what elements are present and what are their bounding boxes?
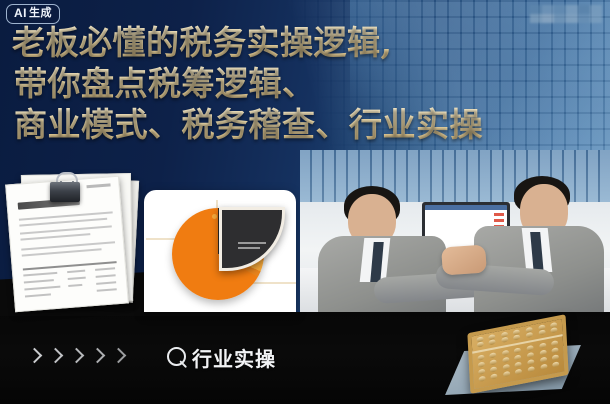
chevron-right-icon — [49, 348, 60, 366]
chevron-right-icon — [112, 348, 123, 366]
watermark-block — [554, 5, 566, 14]
poster-canvas: AI 生成 老板必懂的税务实操逻辑, 带你盘点税筹逻辑、 商业模式、税务稽查、行… — [0, 0, 610, 404]
chevron-right-icon — [28, 348, 39, 366]
chevron-arrows-group — [28, 348, 123, 366]
businessman-left — [318, 172, 468, 312]
ai-badge-cn-text: 生成 — [29, 7, 52, 20]
headline-line-3: 商业模式、税务稽查、行业实操 — [12, 104, 600, 145]
businessman-right — [454, 166, 604, 312]
watermark-block — [530, 5, 542, 14]
paper-code — [86, 183, 110, 188]
watermark-block — [566, 5, 578, 14]
blurred-watermark — [530, 5, 602, 23]
chevron-right-icon — [70, 348, 81, 366]
document-stack — [2, 168, 142, 308]
chevron-right-icon — [91, 348, 102, 366]
chart-leader-line — [252, 282, 296, 284]
handshake-hands — [441, 244, 487, 275]
paper-text-line — [20, 225, 112, 234]
watermark-block — [590, 5, 602, 14]
pie-callout-dot — [212, 214, 217, 219]
binder-clip-icon — [48, 172, 82, 202]
search-label: 行业实操 — [192, 343, 276, 372]
paper-text-line — [20, 233, 90, 240]
pie-slice-label-line — [238, 242, 266, 244]
pie-slice-label-line — [238, 247, 260, 249]
handshake-photo — [300, 150, 610, 312]
ai-badge-ai-text: AI — [14, 7, 27, 20]
ai-generated-badge: AI 生成 — [6, 4, 60, 24]
search-icon — [166, 346, 190, 370]
pie-slice-dark-card — [219, 207, 285, 271]
paper-table — [23, 261, 119, 302]
abacus-group — [462, 322, 572, 392]
headline-line-2: 带你盘点税筹逻辑、 — [12, 63, 600, 104]
headline: 老板必懂的税务实操逻辑, 带你盘点税筹逻辑、 商业模式、税务稽查、行业实操 — [12, 22, 600, 145]
pie-chart-card — [144, 190, 296, 312]
watermark-block — [578, 5, 590, 14]
headline-line-1: 老板必懂的税务实操逻辑, — [12, 22, 600, 63]
clip-body — [50, 182, 80, 202]
watermark-block — [542, 5, 554, 14]
search-tag[interactable]: 行业实操 — [166, 343, 276, 372]
